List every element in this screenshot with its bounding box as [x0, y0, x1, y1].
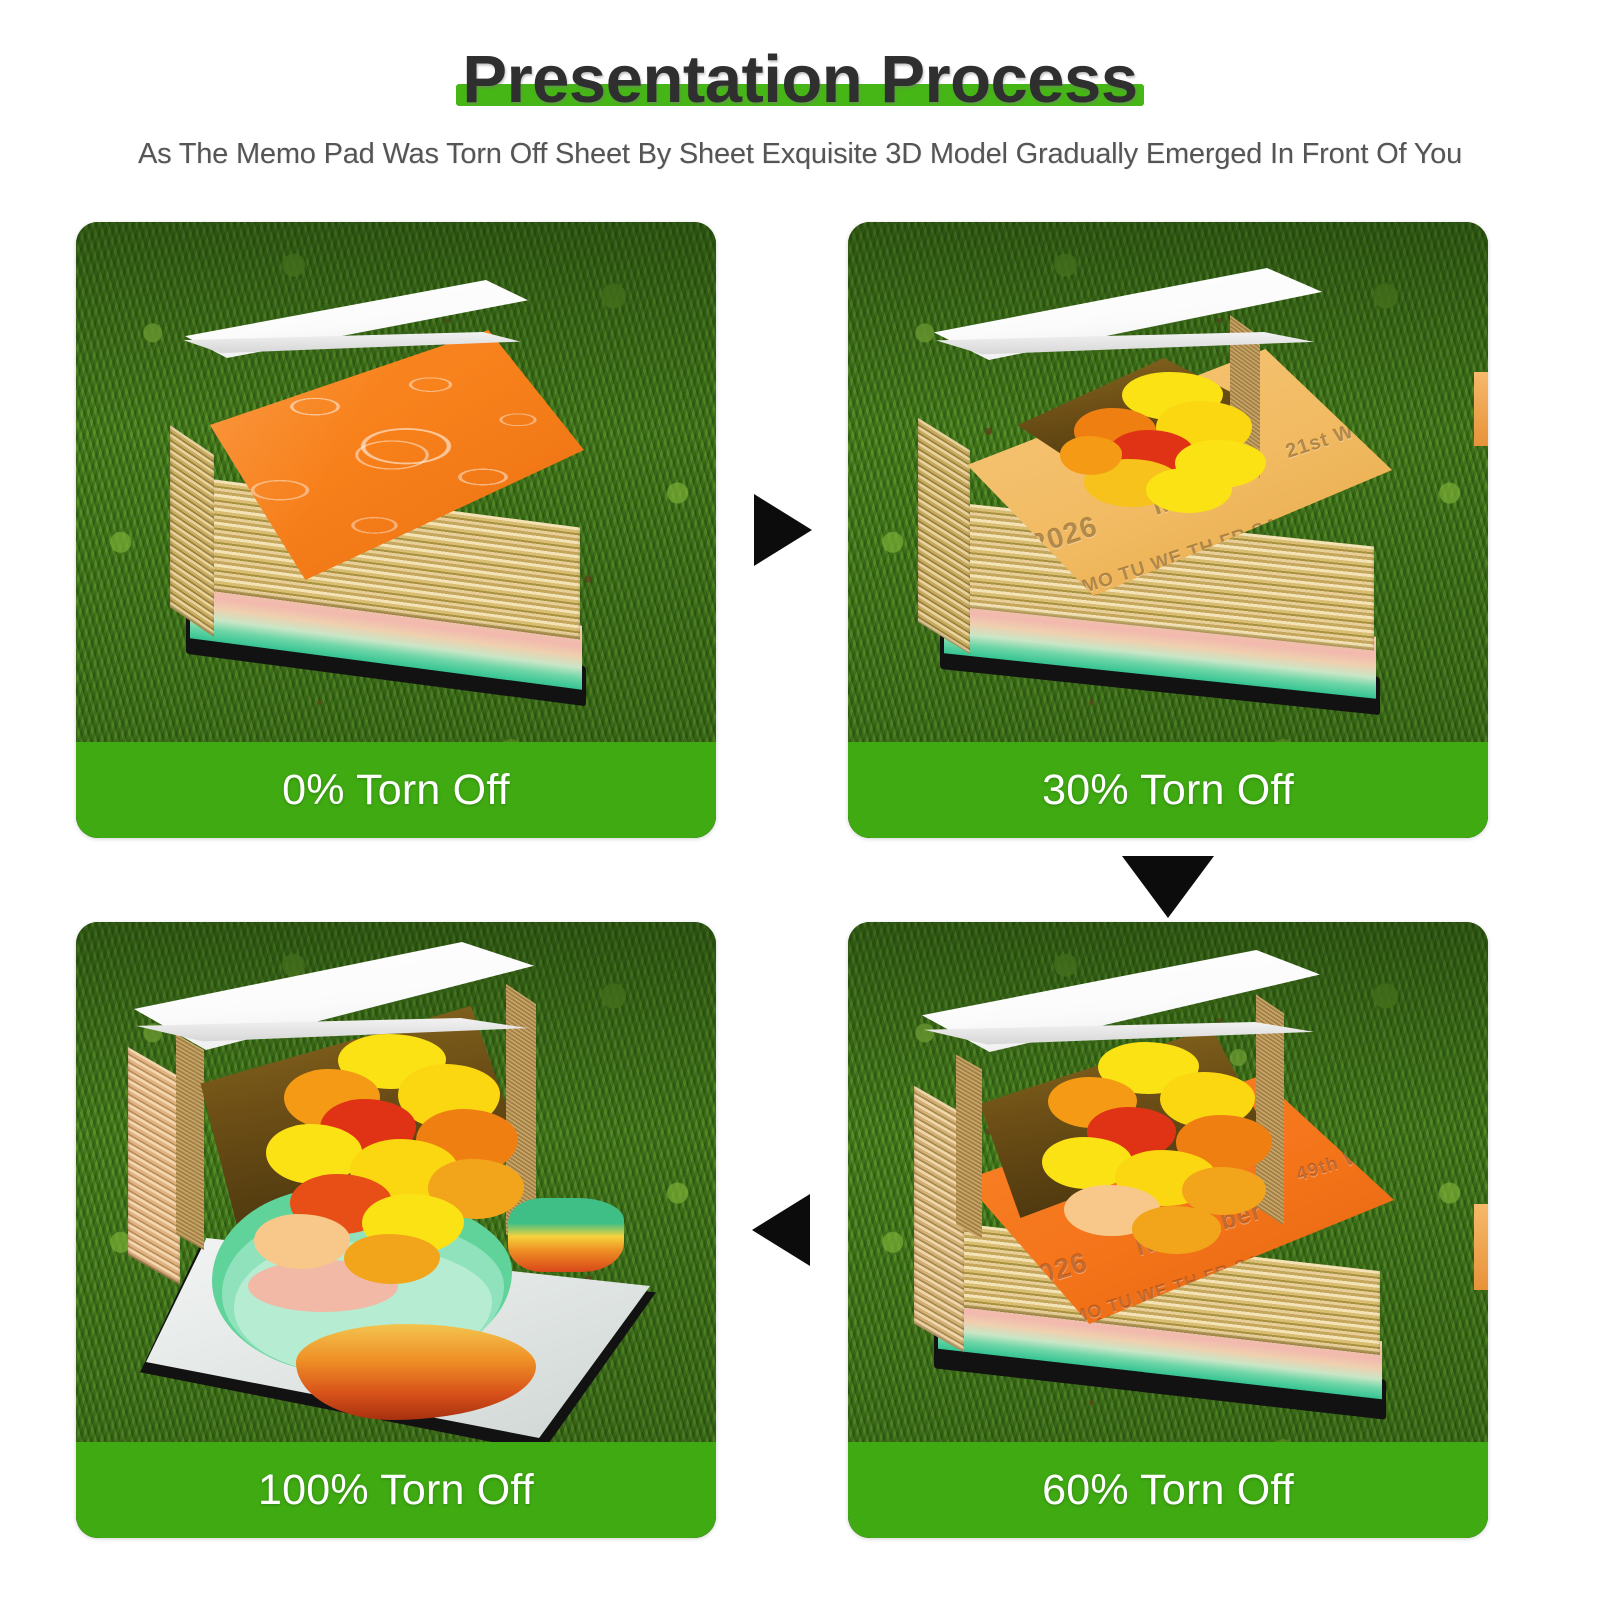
panel-grid: 0% Torn Off 2026 May 21st Week SU MO TU … — [76, 222, 1500, 1574]
paper-tree-30 — [1050, 366, 1290, 526]
panel-100-percent[interactable]: 100% Torn Off — [76, 922, 716, 1538]
leaf-cluster — [1060, 436, 1122, 474]
paper-tree-100 — [242, 1034, 542, 1284]
panel-60-caption-bar: 60% Torn Off — [848, 1442, 1488, 1538]
panel-100-caption-bar: 100% Torn Off — [76, 1442, 716, 1538]
panel-0-caption-bar: 0% Torn Off — [76, 742, 716, 838]
arrow-30-to-60-icon — [1122, 856, 1214, 918]
header: Presentation Process As The Memo Pad Was… — [0, 0, 1600, 171]
panel-30-caption-text: 30% Torn Off — [1042, 766, 1294, 815]
panel-60-percent[interactable]: 2026 November 49th Week SU MO TU WE TH F… — [848, 922, 1488, 1538]
presentation-process-infographic: Presentation Process As The Memo Pad Was… — [0, 0, 1600, 1600]
pad-cavity-left-wall — [956, 1054, 982, 1239]
panel-0-caption-text: 0% Torn Off — [282, 766, 510, 815]
calendar-week-label: 21st Week — [1283, 409, 1391, 464]
panel-0-percent[interactable]: 0% Torn Off — [76, 222, 716, 838]
panel-edge-artifact — [1474, 372, 1488, 446]
panel-60-caption-text: 60% Torn Off — [1042, 1466, 1294, 1515]
pad-page-edges-left — [918, 418, 970, 654]
panel-30-caption-bar: 30% Torn Off — [848, 742, 1488, 838]
page-title-wrap: Presentation Process — [448, 44, 1151, 116]
arrow-0-to-30-icon — [754, 494, 812, 566]
calendar-week-label: 49th Week — [1294, 1136, 1394, 1187]
page-subtitle: As The Memo Pad Was Torn Off Sheet By Sh… — [0, 138, 1600, 171]
arrow-60-to-100-icon — [752, 1194, 810, 1266]
page-title: Presentation Process — [462, 44, 1137, 116]
memo-pad-closed — [162, 270, 632, 750]
pad-page-edges-left-wall — [128, 1047, 180, 1285]
leaf-cluster — [1146, 468, 1232, 513]
memo-pad-30: 2026 May 21st Week SU MO TU WE TH FR SA … — [900, 262, 1430, 762]
memo-pad-60: 2026 November 49th Week SU MO TU WE TH F… — [900, 950, 1440, 1470]
leaf-cluster — [1132, 1206, 1222, 1254]
leaf-cluster — [344, 1234, 440, 1284]
paper-tree-60 — [1014, 1042, 1294, 1258]
panel-edge-artifact — [1474, 1204, 1488, 1290]
leaf-cluster — [254, 1214, 350, 1269]
pad-cavity-left-wall — [176, 1034, 204, 1250]
panel-30-percent[interactable]: 2026 May 21st Week SU MO TU WE TH FR SA … — [848, 222, 1488, 838]
pad-page-edges-left — [170, 425, 214, 637]
memo-pad-100 — [116, 942, 686, 1482]
panel-100-caption-text: 100% Torn Off — [258, 1466, 534, 1515]
